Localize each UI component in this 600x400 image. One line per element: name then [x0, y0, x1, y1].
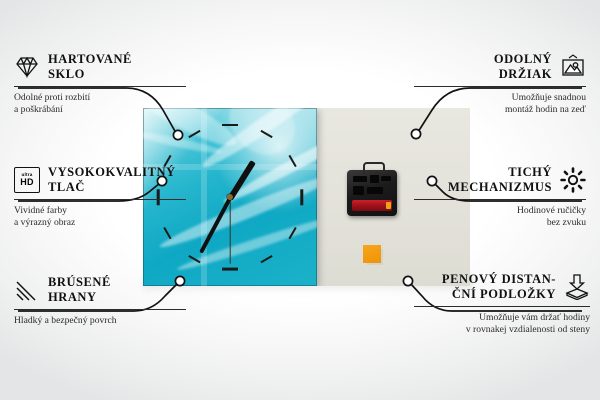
clock-tick	[222, 124, 238, 127]
diamond-icon	[14, 54, 40, 80]
clock-movement	[347, 170, 397, 216]
feature-title: HARTOVANÉ SKLO	[48, 52, 132, 82]
foam-spacer-pad	[363, 245, 381, 263]
divider	[414, 86, 586, 87]
ultra-hd-icon: ultra HD	[14, 167, 40, 193]
feature-tempered-glass: HARTOVANÉ SKLO Odolné proti rozbití a po…	[14, 52, 186, 116]
feature-header: HARTOVANÉ SKLO	[14, 52, 186, 82]
movement-hanger	[363, 162, 385, 174]
feature-durable-holder: ODOLNÝ DRŽIAK Umožňuje snadnou montáž ho…	[414, 52, 586, 116]
feature-description: Hodinové ručičky bez zvuku	[414, 205, 586, 229]
feature-title: TICHÝ MECHANIZMUS	[448, 165, 552, 195]
clock-center-cap	[227, 194, 233, 200]
feature-polished-edges: BRÚSENÉ HRANY Hladký a bezpečný povrch	[14, 275, 186, 327]
feature-description: Odolné proti rozbití a poškrábání	[14, 92, 186, 116]
foam-spacer-icon	[564, 274, 590, 300]
movement-slot	[367, 187, 383, 194]
movement-slot	[353, 176, 367, 182]
divider	[14, 199, 186, 200]
feature-title: ODOLNÝ DRŽIAK	[494, 52, 552, 82]
divider	[14, 309, 186, 310]
feature-header: PENOVÝ DISTAN- ČNÍ PODLOŽKY	[414, 272, 590, 302]
feature-header: ultra HD VYSOKOKVALITNÝ TLAČ	[14, 165, 186, 195]
divider	[14, 86, 186, 87]
feature-description: Hladký a bezpečný povrch	[14, 315, 186, 327]
polished-edges-icon	[14, 277, 40, 303]
clock-battery	[352, 200, 392, 211]
movement-slot	[353, 186, 364, 195]
feature-description: Umožňuje snadnou montáž hodin na zeď	[414, 92, 586, 116]
feature-high-quality-print: ultra HD VYSOKOKVALITNÝ TLAČ Vividné far…	[14, 165, 186, 229]
feature-header: TICHÝ MECHANIZMUS	[414, 165, 586, 195]
gear-icon	[560, 167, 586, 193]
battery-terminal	[386, 202, 391, 209]
feature-title: VYSOKOKVALITNÝ TLAČ	[48, 165, 176, 195]
feature-title: BRÚSENÉ HRANY	[48, 275, 111, 305]
hd-label: HD	[20, 178, 34, 187]
movement-slot	[370, 175, 379, 183]
picture-hanger-icon	[560, 54, 586, 80]
feature-description: Umožňuje vám držať hodiny v rovnakej vzd…	[414, 312, 590, 336]
divider	[414, 306, 590, 307]
feature-header: BRÚSENÉ HRANY	[14, 275, 186, 305]
feature-silent-mechanism: TICHÝ MECHANIZMUS Hodinové ručičky bez z…	[414, 165, 586, 229]
product-infographic: HARTOVANÉ SKLO Odolné proti rozbití a po…	[0, 0, 600, 400]
feature-title: PENOVÝ DISTAN- ČNÍ PODLOŽKY	[442, 272, 556, 302]
divider	[414, 199, 586, 200]
feature-description: Vividné farby a výrazný obraz	[14, 205, 186, 229]
feature-header: ODOLNÝ DRŽIAK	[414, 52, 586, 82]
movement-slot	[381, 176, 391, 181]
feature-foam-spacers: PENOVÝ DISTAN- ČNÍ PODLOŽKY Umožňuje vám…	[414, 272, 590, 336]
clock-tick	[222, 268, 238, 271]
clock-second-hand	[229, 197, 230, 263]
clock-tick	[301, 189, 304, 205]
